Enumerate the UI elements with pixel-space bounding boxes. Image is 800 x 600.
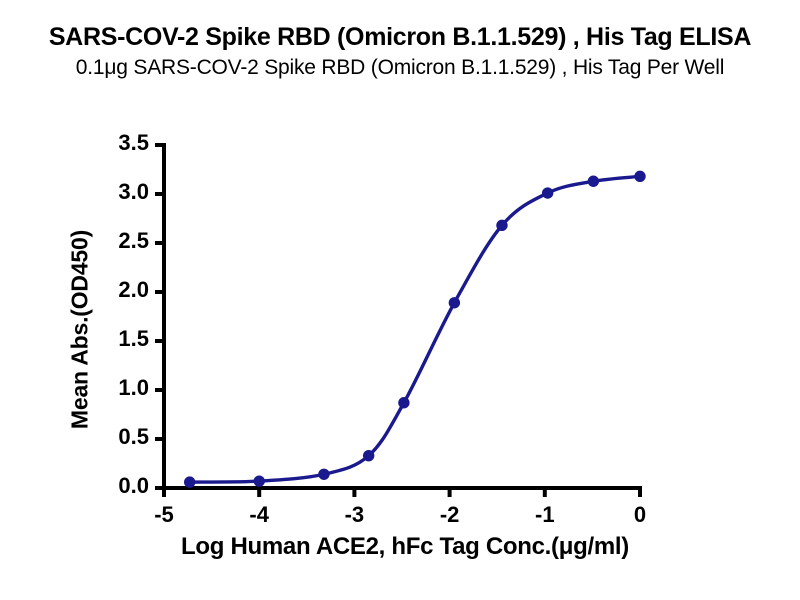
data-point: [496, 220, 507, 231]
y-tick-label: 1.5: [85, 326, 149, 352]
data-point: [542, 187, 553, 198]
data-point: [184, 476, 195, 487]
y-tick-label: 0.0: [85, 473, 149, 499]
data-point: [588, 176, 599, 187]
x-tick-label: -5: [144, 502, 184, 528]
data-point: [449, 297, 460, 308]
data-point: [634, 171, 645, 182]
data-point: [398, 397, 409, 408]
y-tick-label: 3.5: [85, 130, 149, 156]
data-point: [318, 469, 329, 480]
ticks-group: [155, 145, 640, 497]
data-markers: [184, 171, 646, 488]
x-axis-title: Log Human ACE2, hFc Tag Conc.(μg/ml): [100, 533, 710, 561]
y-tick-label: 2.0: [85, 277, 149, 303]
y-tick-label: 3.0: [85, 179, 149, 205]
data-point: [363, 450, 374, 461]
y-tick-label: 2.5: [85, 228, 149, 254]
x-tick-label: -4: [239, 502, 279, 528]
elisa-figure: SARS-COV-2 Spike RBD (Omicron B.1.1.529)…: [0, 0, 800, 600]
x-tick-label: 0: [620, 502, 660, 528]
y-tick-label: 1.0: [85, 375, 149, 401]
data-curve: [190, 176, 640, 482]
x-tick-label: -3: [334, 502, 374, 528]
plot-area: Mean Abs.(OD450) Log Human ACE2, hFc Tag…: [0, 0, 800, 600]
data-point: [254, 475, 265, 486]
axes-group: [162, 143, 642, 490]
y-tick-label: 0.5: [85, 424, 149, 450]
x-tick-label: -1: [525, 502, 565, 528]
x-tick-label: -2: [430, 502, 470, 528]
